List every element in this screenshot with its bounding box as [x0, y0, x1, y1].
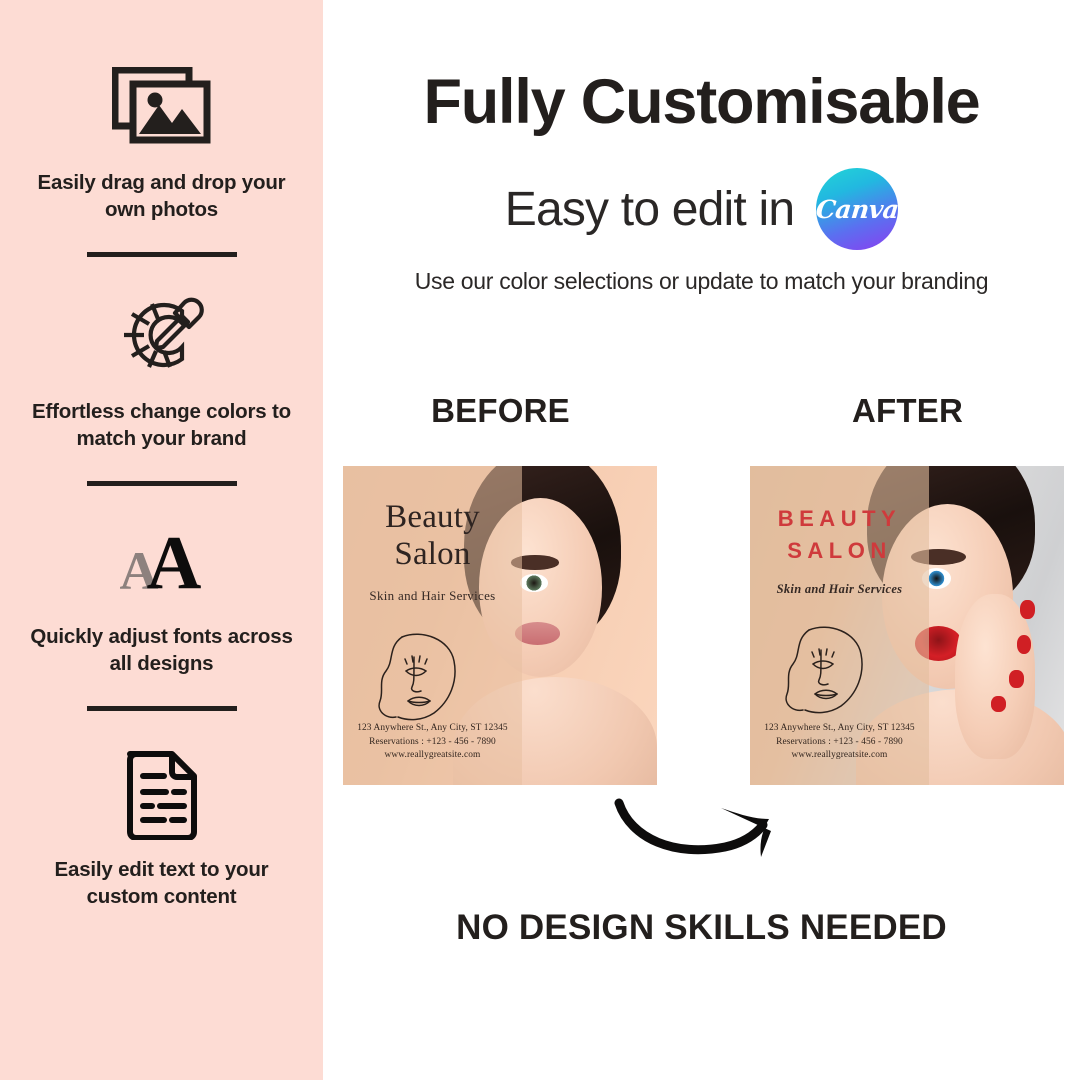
- canva-logo-text: Canva: [814, 195, 900, 224]
- canva-logo-icon: Canva: [816, 168, 898, 250]
- poster-after-address: 123 Anywhere St., Any City, ST 12345: [750, 722, 929, 736]
- feature-item-colors: Effortless change colors to match your b…: [0, 287, 323, 486]
- poster-before-website: www.reallygreatsite.com: [343, 749, 522, 763]
- feature-divider-1: [87, 252, 237, 257]
- feature-label-text: Easily edit text to your custom content: [23, 856, 301, 910]
- feature-divider-3: [87, 706, 237, 711]
- poster-after-reservations: Reservations : +123 - 456 - 7890: [750, 736, 929, 750]
- poster-after-contact: 123 Anywhere St., Any City, ST 12345 Res…: [750, 722, 929, 763]
- curved-arrow-right-icon: [613, 795, 793, 872]
- poster-before-reservations: Reservations : +123 - 456 - 7890: [343, 736, 522, 750]
- poster-before-subtitle: Skin and Hair Services: [369, 588, 495, 604]
- before-label: BEFORE: [343, 392, 658, 430]
- poster-before-text-panel: Beauty Salon Skin and Hair Services: [343, 466, 522, 785]
- font-aa-icon: A A: [114, 512, 210, 608]
- line-art-face-icon-after: [775, 614, 903, 731]
- document-text-icon: [122, 745, 202, 841]
- poster-before-title-line2: Salon: [385, 536, 480, 573]
- color-wheel-eyedropper-icon: [116, 287, 208, 383]
- main-panel: Fully Customisable Easy to edit in Canva…: [323, 0, 1080, 1080]
- poster-after-text-panel: BEAUTY SALON Skin and Hair Services: [750, 466, 929, 785]
- features-sidebar: Easily drag and drop your own photos: [0, 0, 323, 1080]
- poster-card-before[interactable]: Beauty Salon Skin and Hair Services: [343, 466, 657, 785]
- tagline: Use our color selections or update to ma…: [323, 268, 1080, 295]
- poster-after-title: BEAUTY SALON: [778, 503, 901, 567]
- poster-before-title: Beauty Salon: [385, 499, 480, 573]
- photo-stack-icon: [112, 58, 212, 154]
- page-title: Fully Customisable: [323, 66, 1080, 138]
- poster-after-website: www.reallygreatsite.com: [750, 749, 929, 763]
- poster-before-address: 123 Anywhere St., Any City, ST 12345: [343, 722, 522, 736]
- poster-before-contact: 123 Anywhere St., Any City, ST 12345 Res…: [343, 722, 522, 763]
- feature-item-fonts: A A Quickly adjust fonts across all desi…: [0, 512, 323, 711]
- easy-to-edit-label: Easy to edit in: [505, 182, 795, 237]
- feature-label-fonts: Quickly adjust fonts across all designs: [23, 623, 301, 677]
- poster-after-subtitle: Skin and Hair Services: [777, 582, 903, 597]
- poster-before-title-line1: Beauty: [385, 499, 480, 536]
- feature-item-photos: Easily drag and drop your own photos: [0, 58, 323, 257]
- poster-card-after[interactable]: BEAUTY SALON Skin and Hair Services: [750, 466, 1064, 785]
- line-art-face-icon: [368, 621, 496, 738]
- feature-item-text: Easily edit text to your custom content: [0, 745, 323, 910]
- font-aa-large-glyph: A: [147, 525, 202, 601]
- poster-after-title-line1: BEAUTY: [778, 503, 901, 535]
- after-label: AFTER: [750, 392, 1065, 430]
- feature-label-colors: Effortless change colors to match your b…: [23, 398, 301, 452]
- bottom-banner-text: NO DESIGN SKILLS NEEDED: [323, 908, 1080, 948]
- poster-after-title-line2: SALON: [778, 535, 901, 567]
- feature-divider-2: [87, 481, 237, 486]
- easy-to-edit-row: Easy to edit in Canva: [323, 168, 1080, 250]
- feature-label-photos: Easily drag and drop your own photos: [23, 169, 301, 223]
